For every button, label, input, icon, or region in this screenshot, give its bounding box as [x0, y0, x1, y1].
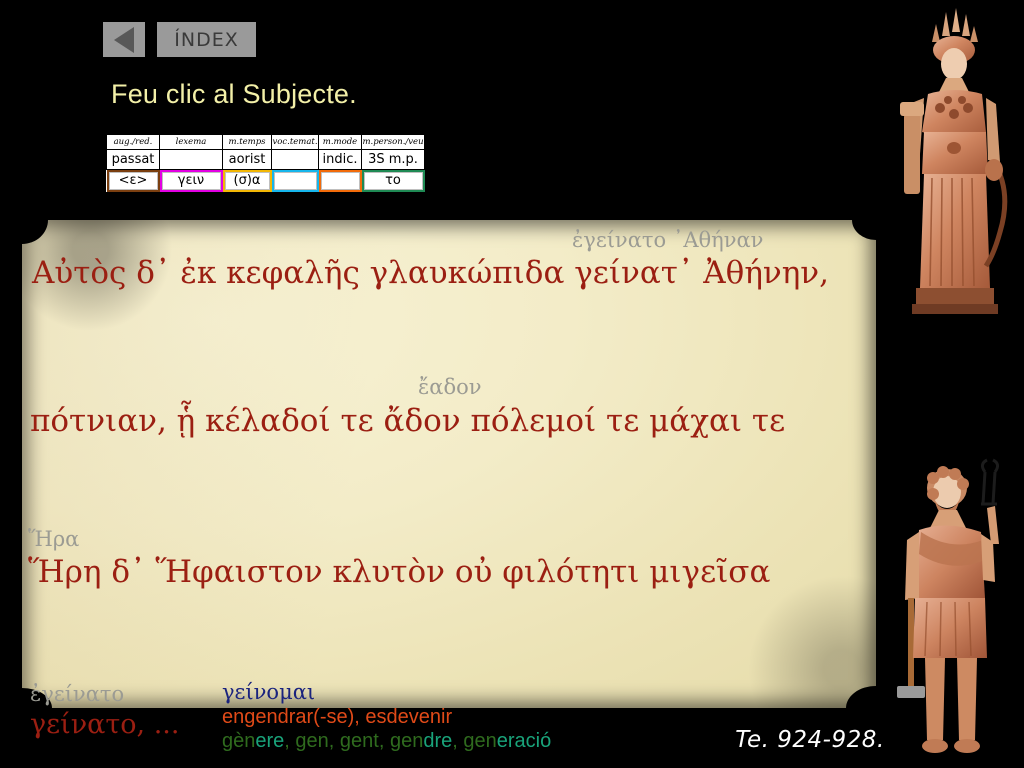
table-value-row: passat aorist indic. 3S m.p. [107, 150, 425, 170]
morphology-table: aug./red. lexema m.temps voc.temat. m.mo… [106, 134, 425, 192]
header-aug-red: aug./red. [107, 135, 160, 150]
value-m-temps: aorist [223, 150, 272, 170]
parchment-panel [22, 220, 876, 708]
derivative-separator: , [329, 730, 340, 752]
morpheme-thematic [274, 172, 317, 190]
derivative-stem: gent [340, 730, 379, 752]
vocab-form-gloss: ἐγείνατο [30, 682, 124, 706]
triangle-left-icon [114, 27, 134, 53]
athena-statue-image [890, 2, 1020, 332]
verse-3-gloss: Ἥρα [28, 527, 79, 551]
hephaestus-statue-image [895, 448, 1023, 766]
verse-2-gloss: ἔαδον [418, 375, 482, 399]
vocab-form: γείνατο, ... [30, 709, 179, 740]
header-m-temps: m.temps [223, 135, 272, 150]
value-aug-red: passat [107, 150, 160, 170]
derivative-stem: gèn [222, 730, 255, 752]
derivative-stem: gen [295, 730, 328, 752]
derivative-stem: gen [463, 730, 496, 752]
page-title: Feu clic al Subjecte. [111, 79, 357, 110]
morpheme-augment: <ε> [109, 172, 158, 190]
derivative-separator: , [284, 730, 295, 752]
value-m-mode: indic. [319, 150, 362, 170]
header-voc-temat: voc.temat. [272, 135, 319, 150]
morpheme-cell-thematic[interactable] [272, 170, 319, 193]
vocab-lemma[interactable]: γείνομαι [222, 680, 315, 704]
morpheme-cell-person[interactable]: το [362, 170, 425, 193]
verse-2-text[interactable]: πότνιαν, ᾗ κέλαδοί τε ἄδον πόλεμοί τε μά… [30, 403, 785, 439]
derivative-stem: gen [390, 730, 423, 752]
derivative-separator: , [379, 730, 390, 752]
morpheme-tense: (σ)α [225, 172, 270, 190]
derivative-ending: eració [497, 730, 551, 752]
header-m-person-veu: m.person./veu [362, 135, 425, 150]
verse-1-text[interactable]: Αὐτὸς δ᾿ ἐκ κεφαλῆς γλαυκώπιδα γείνατ᾿ Ἀ… [32, 255, 829, 291]
index-button-label: ÍNDEX [174, 29, 238, 51]
index-button[interactable]: ÍNDEX [157, 22, 256, 57]
source-citation: Te. 924-928. [700, 727, 920, 753]
table-morpheme-row: <ε> γειν (σ)α το [107, 170, 425, 193]
verse-3-text[interactable]: Ἥρη δ᾿ Ἥφαιστον κλυτὸν οὐ φιλότητι μιγεῖ… [28, 554, 770, 590]
back-button[interactable] [103, 22, 145, 57]
derivative-ending: ere [255, 730, 284, 752]
morpheme-cell-tense[interactable]: (σ)α [223, 170, 272, 193]
vocab-derivatives: gènere, gen, gent, gendre, generació [222, 730, 551, 753]
morpheme-lexeme: γειν [162, 172, 221, 190]
derivative-separator: , [452, 730, 463, 752]
morpheme-person: το [364, 172, 423, 190]
header-m-mode: m.mode [319, 135, 362, 150]
value-m-person-veu: 3S m.p. [362, 150, 425, 170]
derivative-ending: dre [423, 730, 452, 752]
morpheme-mood [321, 172, 360, 190]
morpheme-cell-augment[interactable]: <ε> [107, 170, 160, 193]
value-lexema [160, 150, 223, 170]
morpheme-cell-lexeme[interactable]: γειν [160, 170, 223, 193]
verse-1-gloss: ἐγείνατο ᾿Αθήναν [572, 228, 763, 252]
table-header-row: aug./red. lexema m.temps voc.temat. m.mo… [107, 135, 425, 150]
value-voc-temat [272, 150, 319, 170]
morpheme-cell-mood[interactable] [319, 170, 362, 193]
vocab-translation: engendrar(-se), esdevenir [222, 706, 452, 729]
header-lexema: lexema [160, 135, 223, 150]
